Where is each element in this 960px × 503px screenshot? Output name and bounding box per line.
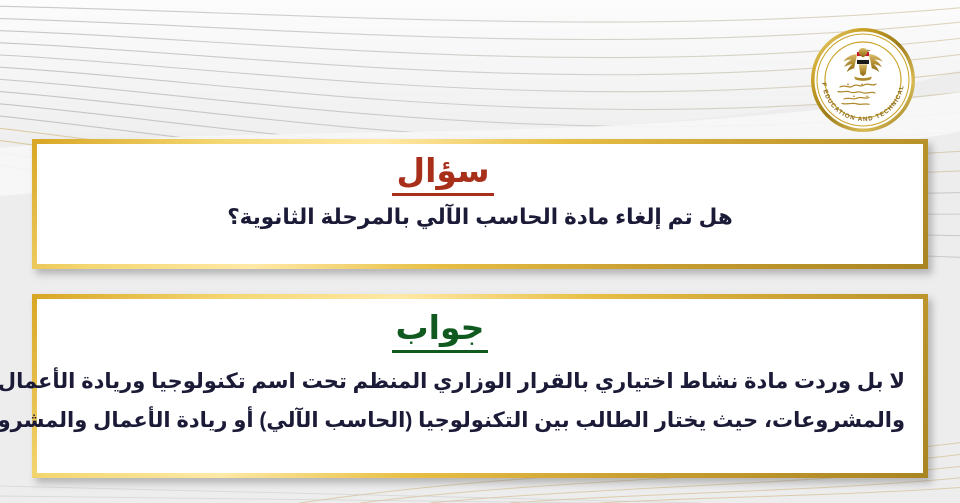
- question-heading-label: سؤال: [392, 150, 493, 196]
- question-card-inner: سؤال هل تم إلغاء مادة الحاسب الآلي بالمر…: [37, 144, 923, 264]
- question-text: هل تم إلغاء مادة الحاسب الآلي بالمرحلة ا…: [55, 202, 905, 233]
- answer-text: لا بل وردت مادة نشاط اختياري بالقرار الو…: [55, 363, 905, 441]
- question-card: سؤال هل تم إلغاء مادة الحاسب الآلي بالمر…: [32, 139, 928, 269]
- answer-text-line-1: لا بل وردت مادة نشاط اختياري بالقرار الو…: [55, 363, 905, 402]
- ministry-seal-icon: MINISTRY OF EDUCATION AND TECHNICAL EDUC…: [810, 27, 916, 133]
- slide-page: MINISTRY OF EDUCATION AND TECHNICAL EDUC…: [0, 0, 960, 503]
- answer-card: جواب لا بل وردت مادة نشاط اختياري بالقرا…: [32, 294, 928, 478]
- answer-heading-label: جواب: [392, 307, 489, 353]
- answer-heading: جواب: [37, 307, 923, 353]
- answer-card-inner: جواب لا بل وردت مادة نشاط اختياري بالقرا…: [37, 299, 923, 473]
- question-heading: سؤال: [37, 150, 923, 196]
- answer-text-line-2: والمشروعات، حيث يختار الطالب بين التكنول…: [55, 402, 905, 441]
